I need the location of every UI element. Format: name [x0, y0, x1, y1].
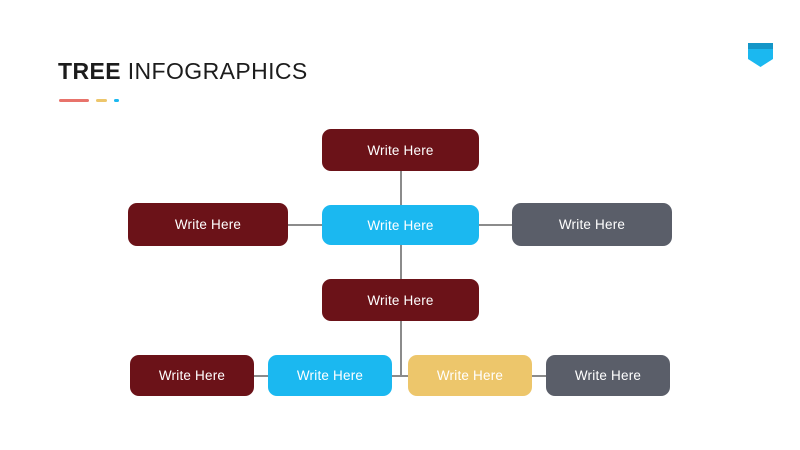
dash-red-icon — [59, 99, 89, 102]
node-label: Write Here — [575, 368, 641, 383]
node-label: Write Here — [367, 143, 433, 158]
shield-badge-icon — [748, 43, 773, 67]
node-top[interactable]: Write Here — [322, 129, 479, 171]
connector-center-to-middleright — [478, 224, 514, 226]
node-label: Write Here — [367, 293, 433, 308]
connector-bottom3-to-bottom4 — [531, 375, 547, 377]
dash-yellow-icon — [96, 99, 107, 102]
dash-blue-icon — [114, 99, 119, 102]
node-bottom-4[interactable]: Write Here — [546, 355, 670, 396]
node-bottom-2[interactable]: Write Here — [268, 355, 392, 396]
node-middle-center[interactable]: Write Here — [322, 205, 479, 245]
node-middle-right[interactable]: Write Here — [512, 203, 672, 246]
connector-top-to-center — [400, 171, 402, 207]
node-label: Write Here — [437, 368, 503, 383]
accent-dashes — [59, 99, 119, 102]
node-label: Write Here — [175, 217, 241, 232]
node-bottom-3[interactable]: Write Here — [408, 355, 532, 396]
page-title-bold: TREE — [58, 58, 121, 84]
page-title-rest: INFOGRAPHICS — [121, 58, 308, 84]
page-title: TREE INFOGRAPHICS — [58, 58, 308, 85]
node-third[interactable]: Write Here — [322, 279, 479, 321]
connector-middleleft-to-center — [288, 224, 324, 226]
node-label: Write Here — [559, 217, 625, 232]
node-label: Write Here — [367, 218, 433, 233]
node-label: Write Here — [297, 368, 363, 383]
node-label: Write Here — [159, 368, 225, 383]
slide-canvas: TREE INFOGRAPHICS Write Here Write Here … — [0, 0, 800, 450]
connector-center-to-third — [400, 243, 402, 281]
connector-third-to-bottom — [400, 320, 402, 376]
node-bottom-1[interactable]: Write Here — [130, 355, 254, 396]
node-middle-left[interactable]: Write Here — [128, 203, 288, 246]
